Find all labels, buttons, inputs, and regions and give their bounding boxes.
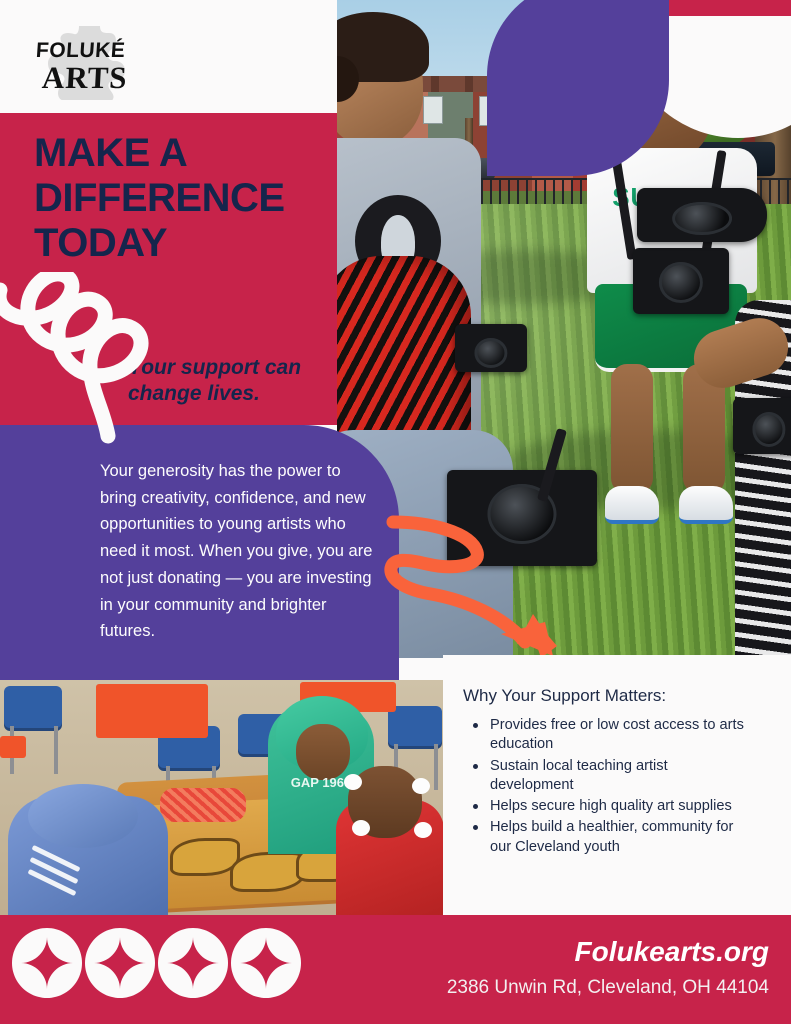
list-item: Sustain local teaching artist developmen… <box>488 757 748 796</box>
photo-dslr-camera <box>733 398 791 454</box>
logo-line1: FOLUKÉ <box>35 40 126 61</box>
support-benefits-list: Provides free or low cost access to arts… <box>466 716 748 859</box>
donation-flyer: SUMMER FOLUKÉ ARTS MAKE A DIFFERENCE TOD… <box>0 0 791 1024</box>
list-item: Helps build a healthier, community for o… <box>488 818 748 857</box>
list-item: Provides free or low cost access to arts… <box>488 716 748 755</box>
list-item: Helps secure high quality art supplies <box>488 797 748 816</box>
red-table-cover <box>96 684 208 738</box>
photo-sneaker <box>679 486 733 524</box>
four-point-star-badge-icon <box>231 928 301 998</box>
hair-bow <box>412 778 430 794</box>
support-card-title: Why Your Support Matters: <box>463 686 666 706</box>
body-paragraph: Your generosity has the power to bring c… <box>100 458 375 645</box>
photo-dslr-camera <box>455 324 527 372</box>
orange-zigzag-arrow-icon <box>383 508 563 668</box>
classroom-chair <box>388 706 442 746</box>
footer-badge-row <box>12 928 301 998</box>
hair-bow <box>414 822 432 838</box>
red-table-cover <box>0 736 26 758</box>
photo-telephoto-lens <box>637 188 767 242</box>
logo-line2: ARTS <box>41 62 128 93</box>
four-point-star-badge-icon <box>85 928 155 998</box>
four-point-star-badge-icon <box>158 928 228 998</box>
street-address: 2386 Unwin Rd, Cleveland, OH 44104 <box>447 978 769 997</box>
classroom-chair <box>4 686 62 728</box>
child-hood <box>28 784 138 848</box>
chair-leg <box>434 744 438 790</box>
classroom-photo: GAP 1969 <box>0 680 443 917</box>
website-url[interactable]: Folukearts.org <box>575 938 769 966</box>
photo-window <box>423 96 443 124</box>
chair-leg <box>54 726 58 774</box>
red-yarn-pile <box>160 788 246 822</box>
child-face <box>296 724 350 780</box>
hair-bow <box>344 774 362 790</box>
photo-sneaker <box>605 486 659 524</box>
hair-bow <box>352 820 370 836</box>
page-title: MAKE A DIFFERENCE TODAY <box>34 131 324 265</box>
paper-fish-artwork <box>230 852 306 892</box>
four-point-star-badge-icon <box>12 928 82 998</box>
photo-dslr-camera <box>633 248 729 314</box>
brand-logo[interactable]: FOLUKÉ ARTS <box>30 22 140 100</box>
photo-person-leg <box>611 364 653 494</box>
